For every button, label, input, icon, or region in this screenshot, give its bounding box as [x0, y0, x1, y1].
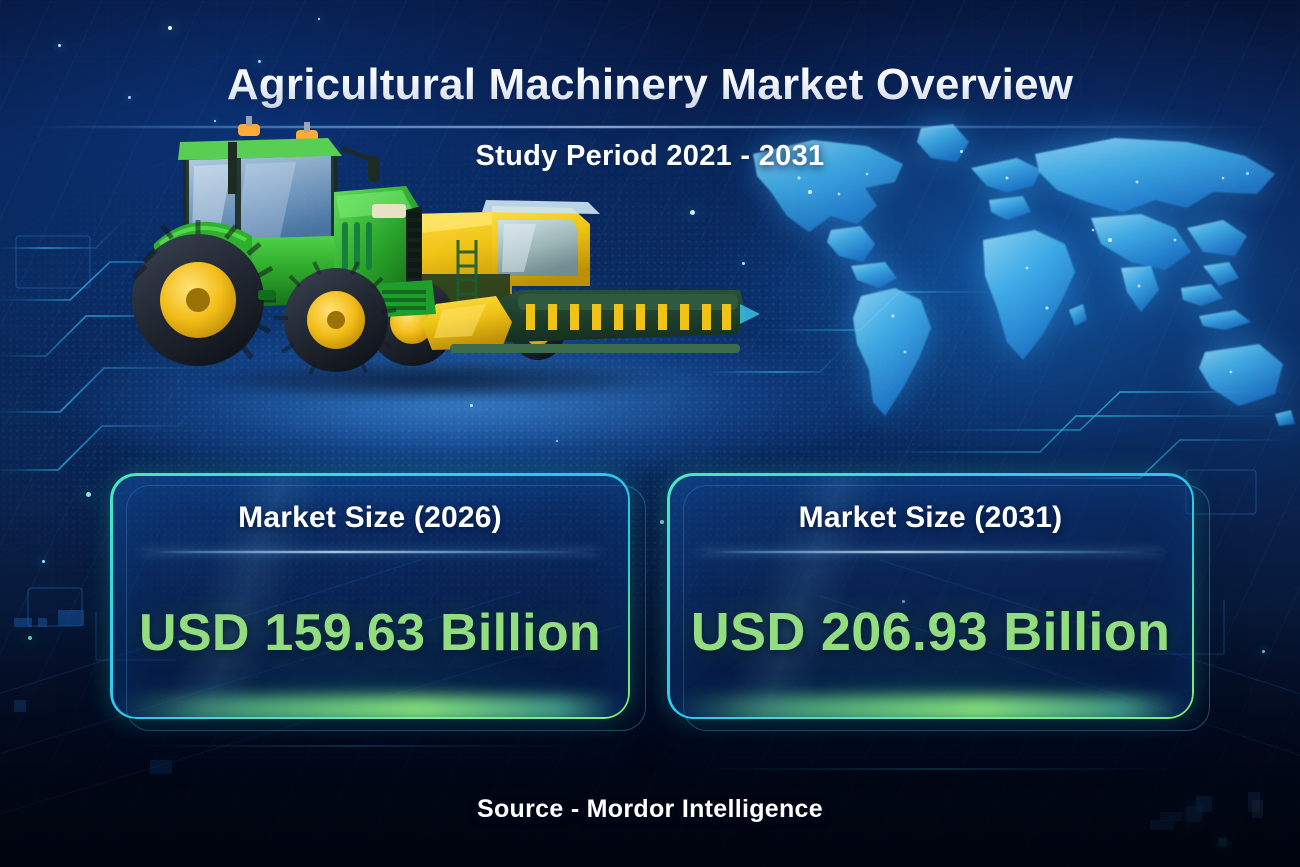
infographic-canvas: Agricultural Machinery Market Overview S… — [0, 0, 1300, 867]
card-value-2031: USD 206.93 Billion — [691, 601, 1171, 663]
card-label-2026: Market Size (2026) — [238, 501, 502, 535]
source-attribution: Source - Mordor Intelligence — [0, 795, 1300, 824]
card-divider-1 — [141, 551, 599, 553]
market-size-card-2026[interactable]: Market Size (2026) USD 159.63 Billion — [110, 473, 630, 719]
card-value-2026: USD 159.63 Billion — [139, 603, 601, 663]
card-label-2031: Market Size (2031) — [799, 501, 1063, 535]
study-period-subtitle: Study Period 2021 - 2031 — [0, 140, 1300, 173]
market-size-card-2031[interactable]: Market Size (2031) USD 206.93 Billion — [667, 473, 1194, 719]
page-title: Agricultural Machinery Market Overview — [0, 60, 1300, 110]
card-divider-2 — [699, 551, 1163, 553]
